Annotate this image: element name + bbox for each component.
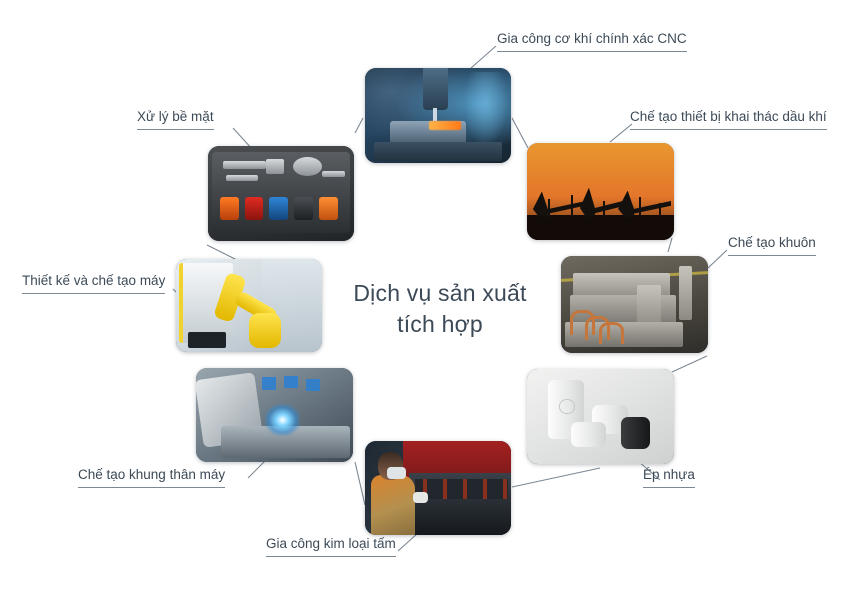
oil-pumpjack-photo <box>527 143 674 240</box>
node-card-machine[interactable] <box>176 259 322 352</box>
node-card-frame[interactable] <box>196 368 353 462</box>
leader-oilgas <box>610 124 632 142</box>
node-card-sheet[interactable] <box>365 441 511 535</box>
injection-mold-photo <box>561 256 708 353</box>
node-label-cnc: Gia công cơ khí chính xác CNC <box>497 30 687 52</box>
node-card-mold[interactable] <box>561 256 708 353</box>
press-brake-worker-photo <box>365 441 511 535</box>
node-label-mold: Chế tạo khuôn <box>728 234 816 256</box>
leader-cnc <box>471 46 496 68</box>
node-card-oilgas[interactable] <box>527 143 674 240</box>
anodized-parts-tray-photo <box>208 146 354 241</box>
node-label-surface: Xử lý bề mặt <box>137 108 214 130</box>
cnc-machining-photo <box>365 68 511 163</box>
node-card-surface[interactable] <box>208 146 354 241</box>
robotic-welding-photo <box>196 368 353 462</box>
node-label-plastic: Ép nhựa <box>643 466 695 488</box>
node-card-plastic[interactable] <box>527 369 674 464</box>
yellow-robot-arm-photo <box>176 259 322 352</box>
node-label-sheet: Gia công kim loại tấm <box>266 535 396 557</box>
node-label-frame: Chế tạo khung thân máy <box>78 466 225 488</box>
node-label-oilgas: Chế tạo thiết bị khai thác dầu khí <box>630 108 827 130</box>
leader-mold <box>708 250 727 268</box>
node-card-cnc[interactable] <box>365 68 511 163</box>
diagram-canvas: Gia công cơ khí chính xác CNC Chế tạo th… <box>0 0 853 590</box>
leader-sheet <box>398 533 418 551</box>
plastic-parts-photo <box>527 369 674 464</box>
node-label-machine: Thiết kế và chế tạo máy <box>22 272 165 294</box>
center-title: Dịch vụ sản xuất tích hợp <box>330 278 550 340</box>
